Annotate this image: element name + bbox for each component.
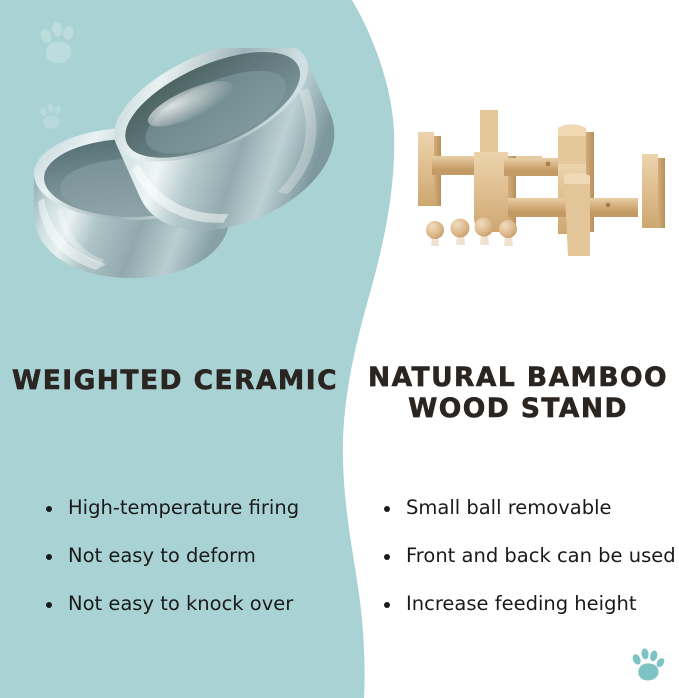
right-panel-heading: NATURAL BAMBOO WOOD STAND xyxy=(368,363,668,424)
stand-post-right-end xyxy=(642,154,665,228)
wood-ball-4 xyxy=(499,220,517,246)
infographic-canvas: WEIGHTED CERAMIC NATURAL BAMBOO WOOD STA… xyxy=(0,0,679,698)
list-item: Not easy to deform xyxy=(44,544,344,567)
stand-post-front-brace xyxy=(564,173,590,256)
stand-removable-balls xyxy=(426,218,517,247)
left-panel-heading: WEIGHTED CERAMIC xyxy=(0,366,350,397)
paw-print-bottom-right xyxy=(628,646,666,684)
ceramic-bowls-photo xyxy=(22,48,352,298)
list-item: Not easy to knock over xyxy=(44,592,344,615)
wood-ball-2 xyxy=(451,219,470,246)
wood-ball-1 xyxy=(426,221,444,246)
list-item: Front and back can be used xyxy=(382,544,679,567)
right-panel-heading-line1: NATURAL BAMBOO xyxy=(368,363,668,394)
list-item: Increase feeding height xyxy=(382,592,679,615)
bamboo-wood-stand-photo xyxy=(408,106,674,276)
wood-ball-3 xyxy=(475,218,494,246)
list-item: High-temperature firing xyxy=(44,496,344,519)
right-panel-feature-list: Small ball removable Front and back can … xyxy=(382,496,679,640)
list-item: Small ball removable xyxy=(382,496,679,519)
left-panel-feature-list: High-temperature firing Not easy to defo… xyxy=(44,496,344,640)
right-panel-heading-line2: WOOD STAND xyxy=(368,394,668,425)
